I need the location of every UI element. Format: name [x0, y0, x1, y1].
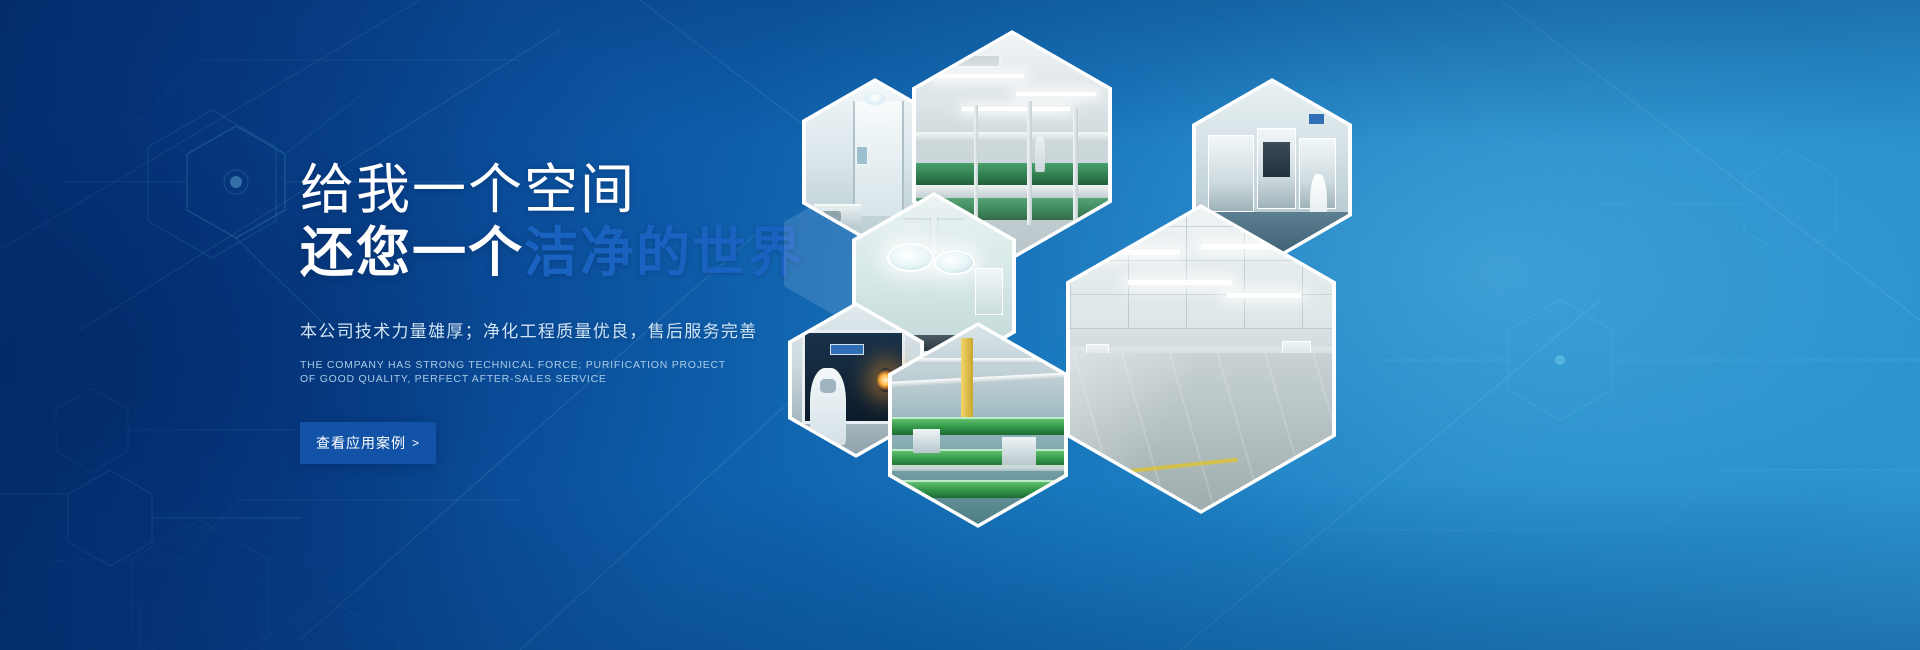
scene-clean-hall [1070, 208, 1332, 510]
hex-photo-hall[interactable] [1066, 204, 1336, 514]
view-cases-button-label: 查看应用案例 [316, 433, 406, 453]
chevron-right-icon: > [412, 436, 420, 450]
headline-line-2-white: 还您一个 [300, 223, 524, 283]
hero-banner: 给我一个空间 还您一个洁净的世界 本公司技术力量雄厚；净化工程质量优良，售后服务… [0, 0, 1920, 650]
hexagon-photo-cluster [760, 0, 1920, 650]
view-cases-button[interactable]: 查看应用案例 > [300, 422, 436, 464]
